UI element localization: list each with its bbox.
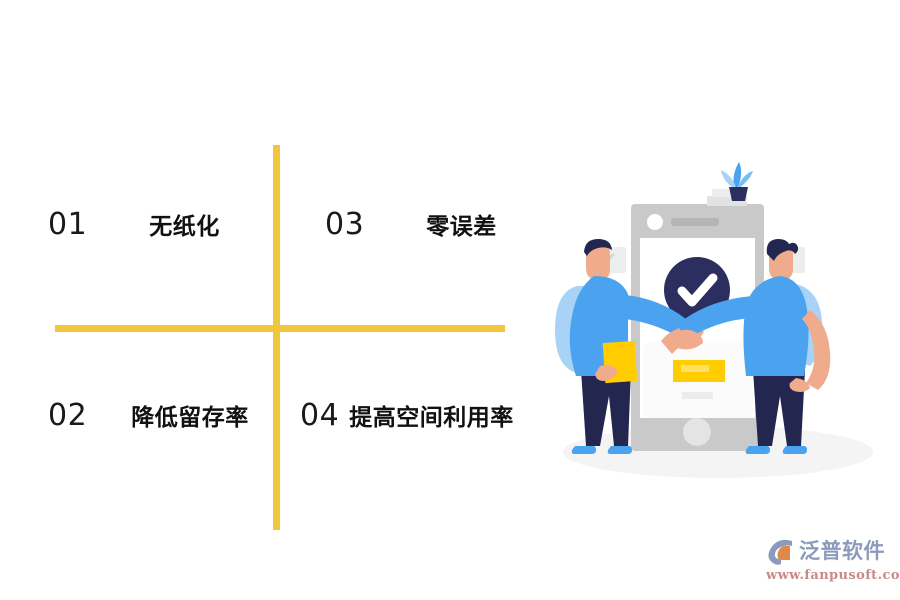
watermark: 泛普软件 www.fanpusoft.com [766, 534, 894, 590]
yellow-card-line [681, 365, 709, 372]
quadrant-item-04: 04 提高空间利用率 [300, 398, 514, 433]
watermark-brand-name: 泛普软件 [799, 535, 885, 565]
phone-home-button [683, 418, 711, 446]
quadrant-label-03: 零误差 [426, 207, 497, 241]
quadrant-label-04: 提高空间利用率 [349, 398, 514, 432]
handshake-agreement-mobile-illustration [548, 160, 888, 490]
screen-grey-line [682, 392, 713, 399]
divider-horizontal [55, 325, 505, 332]
quadrant-item-03: 03 零误差 [325, 207, 497, 242]
fanpu-swoosh-logo-icon [766, 535, 796, 565]
quadrant-number-02: 02 [48, 398, 87, 433]
quadrant-number-03: 03 [325, 207, 364, 242]
quadrant-item-02: 02 降低留存率 [48, 398, 249, 433]
phone-speaker [671, 218, 719, 226]
watermark-url: www.fanpusoft.com [766, 568, 894, 583]
quadrant-label-02: 降低留存率 [131, 398, 249, 432]
quadrant-number-01: 01 [48, 207, 87, 242]
quadrant-number-04: 04 [300, 398, 339, 433]
watermark-brand-row: 泛普软件 [766, 534, 894, 566]
divider-vertical [273, 145, 280, 530]
quadrant-item-01: 01 无纸化 [48, 207, 220, 242]
slide-canvas: 01 无纸化 03 零误差 02 降低留存率 04 提高空间利用率 [0, 0, 900, 600]
phone-camera-dot [647, 214, 663, 230]
quadrant-label-01: 无纸化 [149, 207, 220, 241]
